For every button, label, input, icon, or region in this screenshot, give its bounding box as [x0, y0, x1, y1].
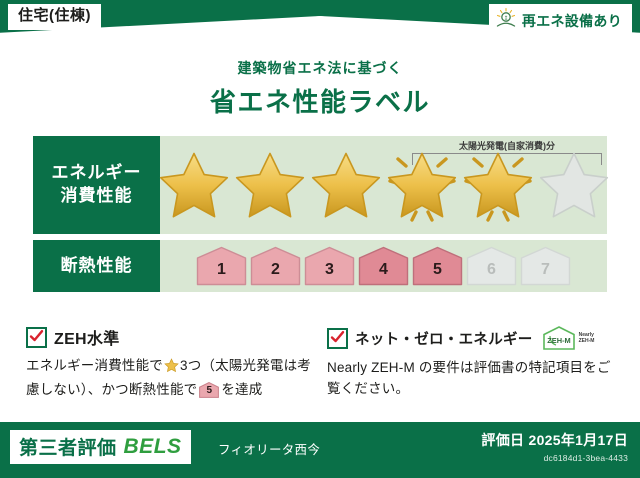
star-filled [462, 150, 534, 222]
star-filled [386, 150, 458, 222]
svg-text:ｴ: ｴ [505, 14, 508, 21]
renewable-equipment-badge: ｴ 再エネ設備あり [489, 4, 632, 37]
insulation-house-rating: 1 2 3 4 5 6 7 [160, 246, 607, 286]
house-step-number: 4 [358, 262, 409, 278]
svg-text:ZEH-M: ZEH-M [547, 336, 570, 345]
house-step-empty: 6 [466, 246, 517, 286]
net-zero-energy-body: Nearly ZEH-M の要件は評価書の特記項目をご覧ください。 [327, 358, 616, 400]
net-zero-energy-block: ネット・ゼロ・エネルギー ZEH-M Nearly ZEH-M Nearly Z… [327, 325, 616, 401]
energy-star-rating [160, 150, 607, 222]
bels-en-label: BELS [124, 435, 182, 459]
zeh-section: ZEH水準 エネルギー消費性能で3つ（太陽光発電は考慮しない）、かつ断熱性能で5… [26, 325, 616, 401]
zeh-m-sub-line2: ZEH-M [579, 338, 595, 344]
house-step-filled: 3 [304, 246, 355, 286]
solar-sun-icon: ｴ [495, 7, 517, 34]
house-step-number: 1 [196, 262, 247, 278]
inline-house-number: 5 [199, 386, 219, 396]
house-step-number: 2 [250, 262, 301, 278]
energy-performance-label: 住宅(住棟) ｴ 再エネ設備あり 建築物省エネ法に基づく 省エネ性能ラベル [0, 0, 640, 478]
title-subtitle: 建築物省エネ法に基づく [0, 58, 640, 78]
star-empty [538, 150, 610, 222]
building-name: フィオリータ西今 [218, 439, 320, 458]
house-step-number: 6 [466, 262, 517, 278]
star-filled [310, 150, 382, 222]
house-step-number: 7 [520, 262, 571, 278]
zeh-m-logo: ZEH-M Nearly ZEH-M [542, 325, 595, 351]
label-footer: 第三者評価 BELS フィオリータ西今 評価日 2025年1月17日 dc618… [0, 422, 640, 478]
zeh-standard-header: ZEH水準 [26, 325, 315, 349]
house-step-filled: 5 [412, 246, 463, 286]
zeh-standard-text-1: エネルギー消費性能で [26, 358, 163, 373]
star-filled [158, 150, 230, 222]
insulation-label: 断熱性能 [61, 255, 133, 278]
inline-star-icon [164, 358, 179, 380]
net-zero-energy-header: ネット・ゼロ・エネルギー ZEH-M Nearly ZEH-M [327, 325, 616, 351]
energy-label-line1: エネルギー [52, 162, 142, 185]
label-title: 建築物省エネ法に基づく 省エネ性能ラベル [0, 58, 640, 119]
energy-row-body: 太陽光発電(自家消費)分 [160, 136, 607, 234]
building-type-badge: 住宅(住棟) [8, 4, 101, 30]
house-step-filled: 1 [196, 246, 247, 286]
zeh-standard-body: エネルギー消費性能で3つ（太陽光発電は考慮しない）、かつ断熱性能で5を達成 [26, 356, 315, 401]
house-step-filled: 2 [250, 246, 301, 286]
bels-jp-label: 第三者評価 [19, 433, 117, 460]
zeh-m-logo-subtext: Nearly ZEH-M [579, 332, 595, 345]
house-step-number: 5 [412, 262, 463, 278]
energy-row-label: エネルギー 消費性能 [33, 136, 160, 234]
zeh-standard-block: ZEH水準 エネルギー消費性能で3つ（太陽光発電は考慮しない）、かつ断熱性能で5… [26, 325, 315, 401]
energy-performance-row: エネルギー 消費性能 太陽光発電(自家消費)分 [33, 136, 607, 234]
insulation-row-body: 1 2 3 4 5 6 7 [160, 240, 607, 292]
check-icon [327, 328, 348, 349]
zeh-standard-text-3: を達成 [221, 382, 262, 397]
insulation-row-label: 断熱性能 [33, 240, 160, 292]
house-step-filled: 4 [358, 246, 409, 286]
zeh-standard-text-star-count: 3つ（太陽光発電 [180, 358, 284, 373]
check-icon [26, 327, 47, 348]
energy-label-line2: 消費性能 [61, 185, 133, 208]
star-filled [234, 150, 306, 222]
house-step-empty: 7 [520, 246, 571, 286]
performance-rows: エネルギー 消費性能 太陽光発電(自家消費)分 [33, 136, 607, 298]
house-step-number: 3 [304, 262, 355, 278]
zeh-standard-title: ZEH水準 [54, 325, 120, 349]
evaluation-id: dc6184d1-3bea-4433 [481, 453, 628, 463]
footer-right: 評価日 2025年1月17日 dc6184d1-3bea-4433 [481, 430, 628, 463]
evaluation-date: 評価日 2025年1月17日 [481, 430, 628, 450]
net-zero-energy-title: ネット・ゼロ・エネルギー [355, 328, 533, 349]
title-main: 省エネ性能ラベル [0, 82, 640, 119]
bels-badge: 第三者評価 BELS [10, 430, 191, 464]
insulation-performance-row: 断熱性能 1 2 3 4 5 6 7 [33, 240, 607, 292]
zeh-m-sub-line1: Nearly [579, 332, 594, 338]
renewable-badge-label: 再エネ設備あり [522, 11, 622, 31]
inline-house-icon: 5 [199, 382, 219, 398]
